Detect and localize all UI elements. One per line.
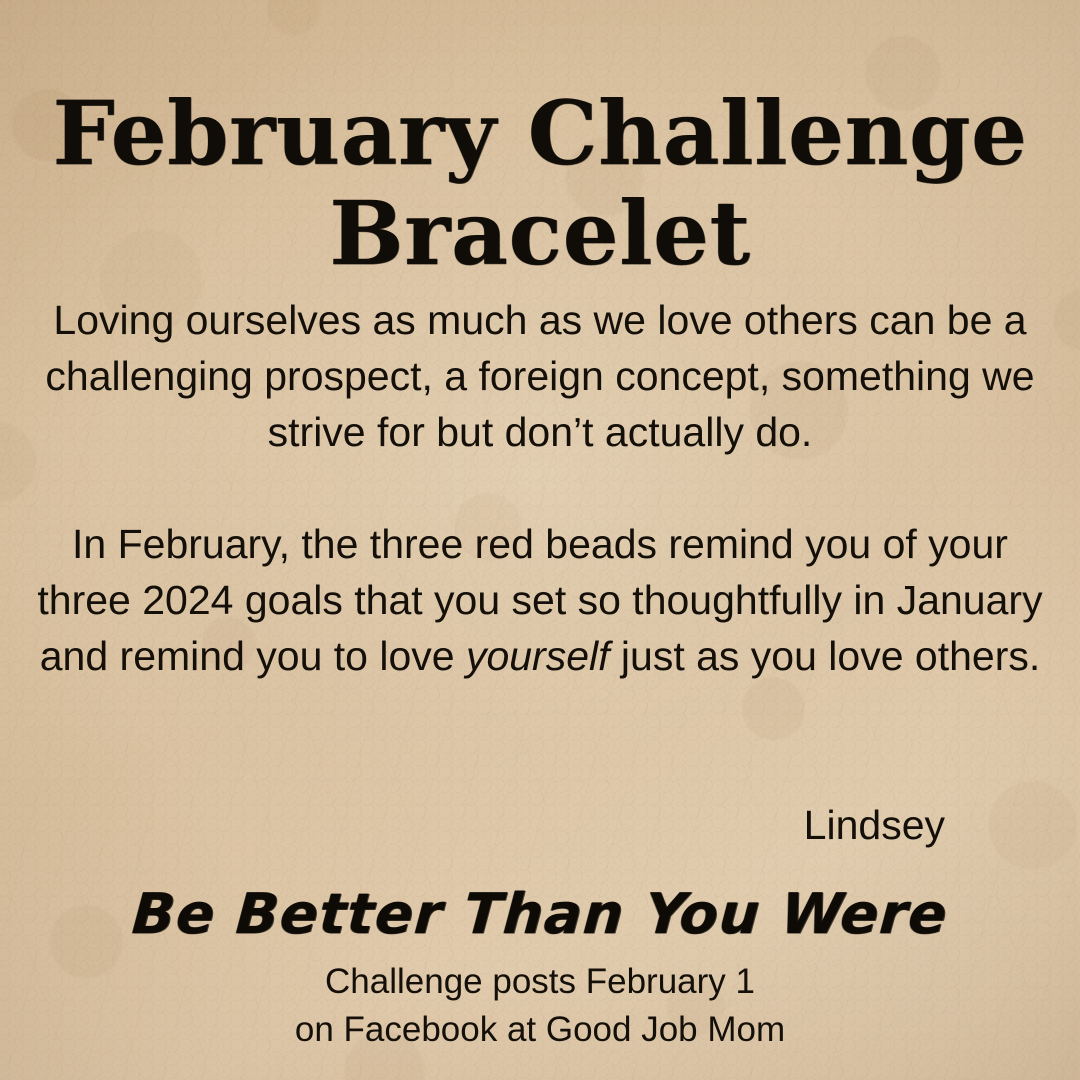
poster-canvas: February Challenge Bracelet Loving ourse… — [0, 0, 1080, 1080]
footer-line-1: Challenge posts February 1 — [0, 958, 1080, 1006]
brand-tagline: Be Better Than You Were — [0, 884, 1080, 946]
title-line-2: Bracelet — [329, 181, 750, 285]
poster-content: February Challenge Bracelet Loving ourse… — [0, 0, 1080, 1080]
paragraph-two: In February, the three red beads remind … — [24, 516, 1056, 684]
body-text-block: Loving ourselves as much as we love othe… — [24, 292, 1056, 684]
footer-details: Challenge posts February 1 on Facebook a… — [0, 958, 1080, 1054]
author-signature: Lindsey — [0, 801, 945, 849]
page-title: February Challenge Bracelet — [0, 83, 1080, 284]
footer-line-2: on Facebook at Good Job Mom — [0, 1006, 1080, 1054]
paragraph-two-emphasis: yourself — [466, 633, 610, 679]
paragraph-two-part-two: just as you love others. — [610, 633, 1041, 679]
paragraph-one: Loving ourselves as much as we love othe… — [24, 292, 1056, 460]
title-line-1: February Challenge — [52, 81, 1027, 185]
